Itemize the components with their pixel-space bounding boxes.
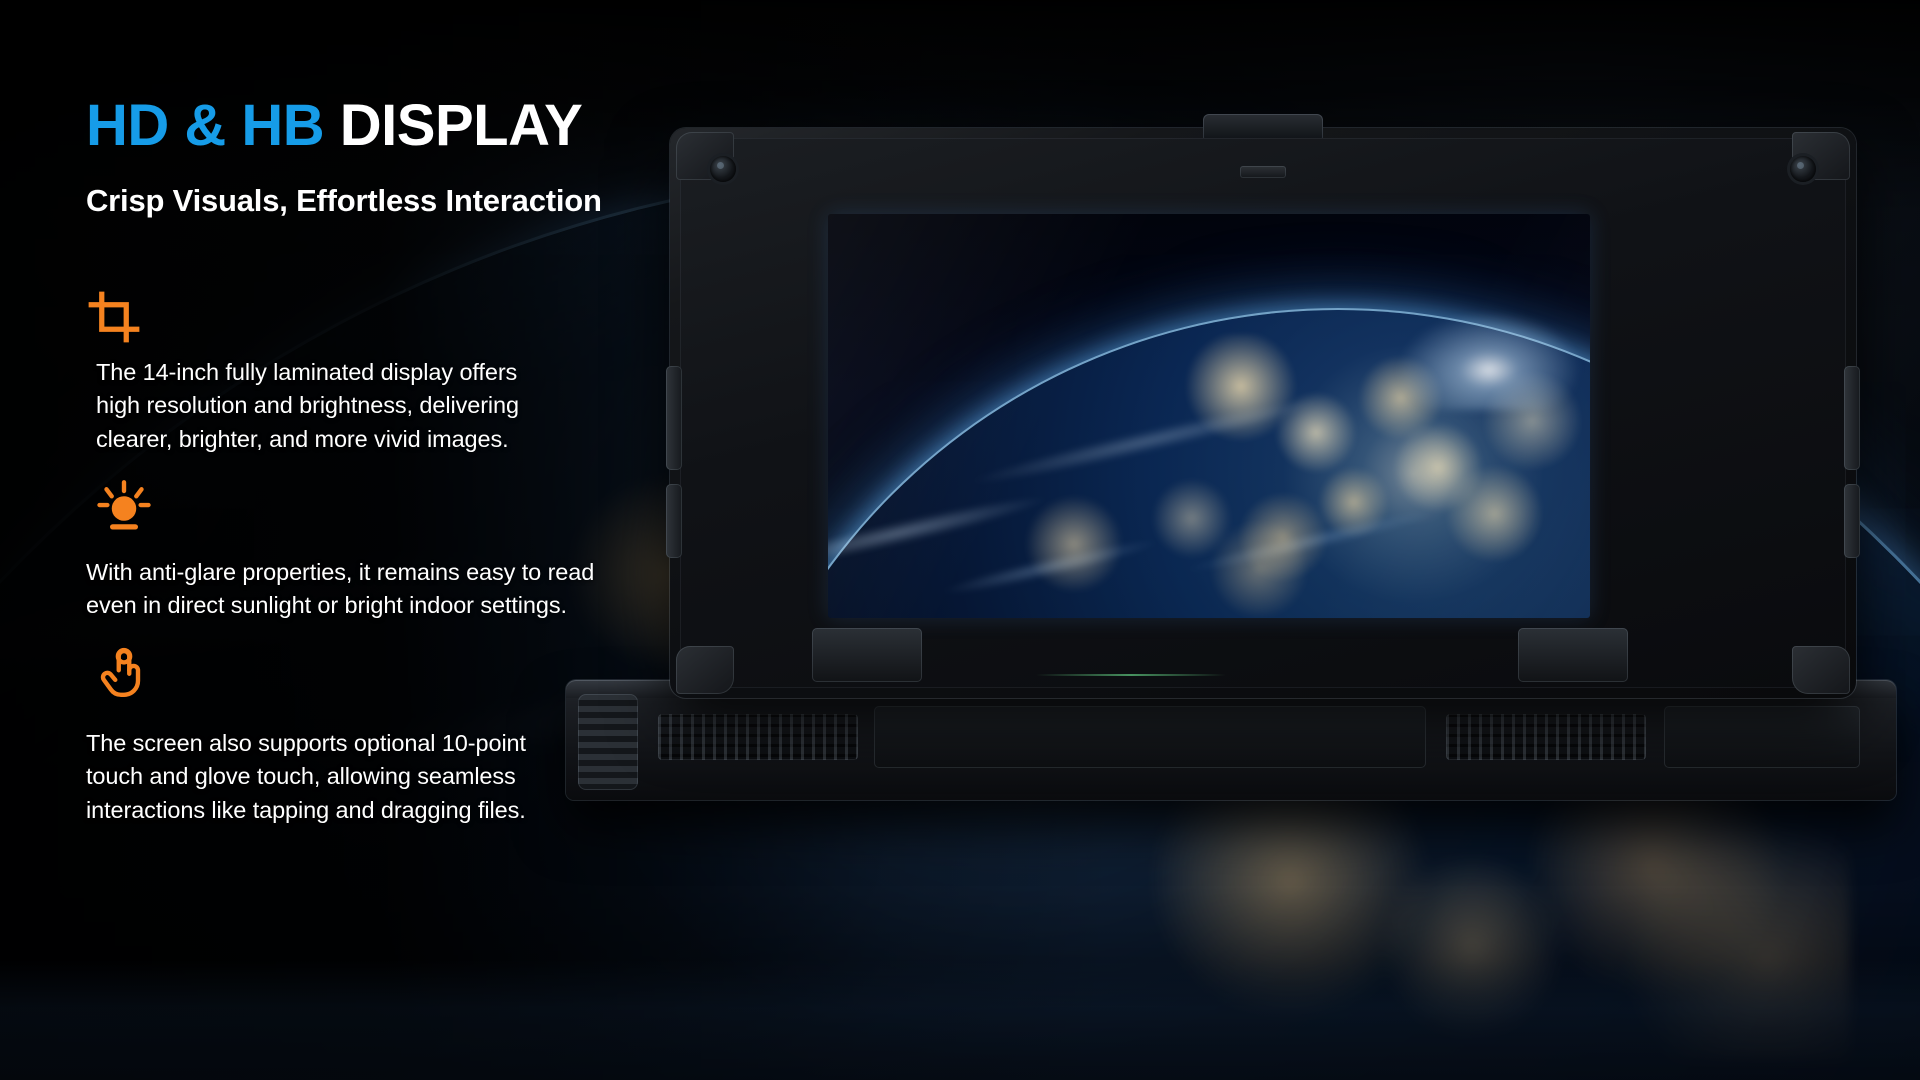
page-title-accent: HD & HB [86,93,324,158]
page-title: HD & HB DISPLAY [86,96,786,155]
feature-text-display: The 14-inch fully laminated display offe… [96,356,726,456]
brightness-sun-icon [96,476,152,534]
lid-clamp-left [812,628,922,682]
display-screen[interactable] [828,214,1590,618]
laptop-base [566,680,1896,800]
sensor-icon [1790,156,1816,182]
feature-text-touch: The screen also supports optional 10-poi… [86,727,726,827]
side-rail-right-lower [1844,484,1860,558]
feature-list: The 14-inch fully laminated display offe… [86,288,726,827]
feature-item-antiglare: With anti-glare properties, it remains e… [86,476,726,623]
side-rail-right-upper [1844,366,1860,470]
keyboard-deck-panel [874,706,1426,768]
top-latch-icon [1203,114,1323,140]
ground-reflection [0,960,1920,1080]
slide-root: HD & HB DISPLAY Crisp Visuals, Effortles… [0,0,1920,1080]
screen-sun-glint [1394,310,1584,410]
page-title-plain: DISPLAY [324,93,582,158]
headline-block: HD & HB DISPLAY Crisp Visuals, Effortles… [86,96,786,219]
touch-gesture-icon [96,643,152,701]
status-led-strip [1036,674,1226,676]
feature-item-touch: The screen also supports optional 10-poi… [86,643,726,827]
right-vent [1446,714,1646,760]
lid-clamp-right [1518,628,1628,682]
feature-item-display: The 14-inch fully laminated display offe… [86,288,726,456]
bumper-bottom-right [1792,646,1850,694]
page-subtitle: Crisp Visuals, Effortless Interaction [86,183,786,219]
latch-nub-icon [1240,166,1286,178]
feature-text-antiglare: With anti-glare properties, it remains e… [86,556,726,623]
keyboard-deck-panel-right [1664,706,1860,768]
rugged-laptop [566,128,1896,828]
crop-frame-icon [86,288,142,346]
laptop-lid [670,128,1856,698]
